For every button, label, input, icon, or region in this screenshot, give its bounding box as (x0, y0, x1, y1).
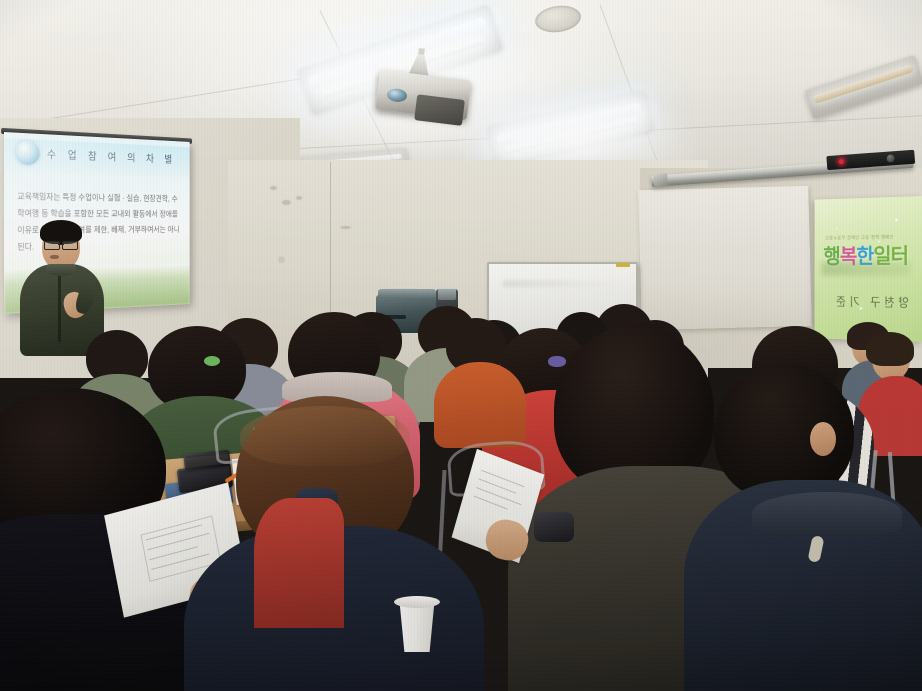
grinder-hopper (438, 286, 456, 300)
hood-collar (752, 492, 902, 534)
ceiling-projector (375, 58, 473, 121)
hair-tie (548, 356, 566, 367)
green-wall-banner: 고용노동부 장애인 고용 정책 캠페인 행복한일터 양천구 기준 (815, 196, 922, 342)
presenter-collar (46, 264, 76, 276)
red-jacket-shoulder (254, 498, 344, 628)
espresso-top (378, 289, 436, 298)
presenter (16, 222, 112, 352)
hair-tie (204, 356, 220, 366)
roller-end-cap (653, 173, 668, 187)
wall-mark (340, 226, 351, 229)
wall-mark (296, 196, 302, 200)
banner-title-shadow (822, 262, 911, 276)
glasses-icon (44, 241, 78, 248)
projector-lens (386, 88, 407, 103)
wall-corner-line (330, 162, 331, 312)
hair-highlight (240, 406, 410, 466)
whiteboard-marker (616, 263, 630, 267)
whiteboard-marks (503, 280, 620, 287)
lecture-hall-photo: 수 업 참 여 의 차 별 교육책임자는 특정 수업이나 실험 · 실습, 현장… (0, 0, 922, 691)
wall-mark (282, 200, 291, 205)
banner-bottom-text: 양천구 기준 (832, 293, 909, 311)
wall-mark (278, 256, 285, 263)
slide-logo-orb-icon (15, 141, 39, 166)
paper-cup-held-rim (394, 596, 440, 608)
shirt-placket (58, 270, 61, 342)
wall-mark (270, 186, 277, 190)
held-device (534, 512, 574, 542)
ear (810, 422, 836, 456)
presenter-mouth (50, 255, 59, 259)
secondary-projection-screen (638, 186, 812, 330)
